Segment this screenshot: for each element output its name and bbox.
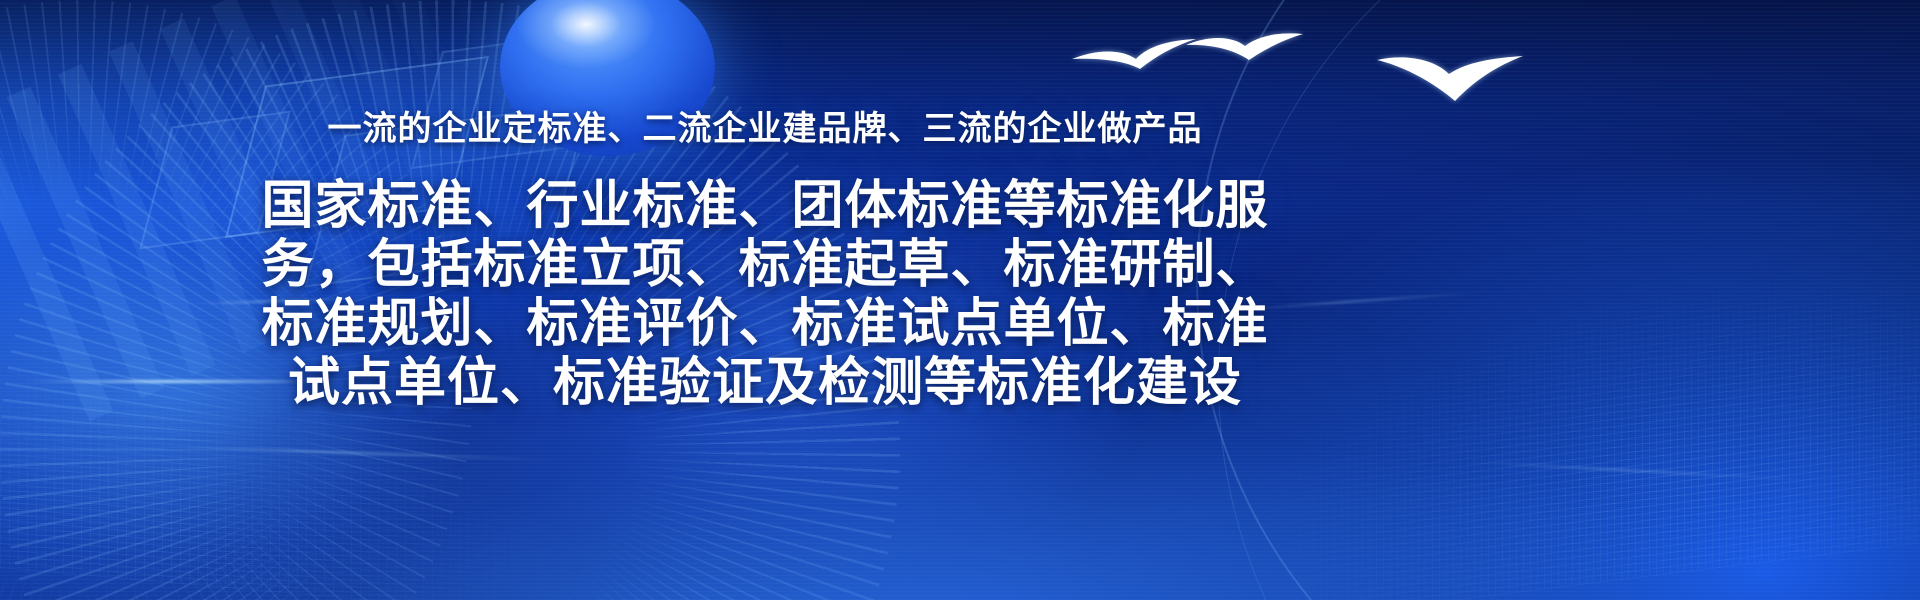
headline-line-3: 标准规划、标准评价、标准试点单位、标准 xyxy=(245,295,1285,354)
promo-banner: 一流的企业定标准、二流企业建品牌、三流的企业做产品 国家标准、行业标准、团体标准… xyxy=(0,0,1920,600)
headline-line-1: 国家标准、行业标准、团体标准等标准化服 xyxy=(245,177,1285,236)
banner-headline: 国家标准、行业标准、团体标准等标准化服 务，包括标准立项、标准起草、标准研制、 … xyxy=(245,177,1285,414)
banner-subtitle: 一流的企业定标准、二流企业建品牌、三流的企业做产品 xyxy=(328,108,1203,151)
headline-line-4: 试点单位、标准验证及检测等标准化建设 xyxy=(245,354,1285,413)
headline-line-2: 务，包括标准立项、标准起草、标准研制、 xyxy=(245,236,1285,295)
banner-text-block: 一流的企业定标准、二流企业建品牌、三流的企业做产品 国家标准、行业标准、团体标准… xyxy=(0,0,1530,600)
